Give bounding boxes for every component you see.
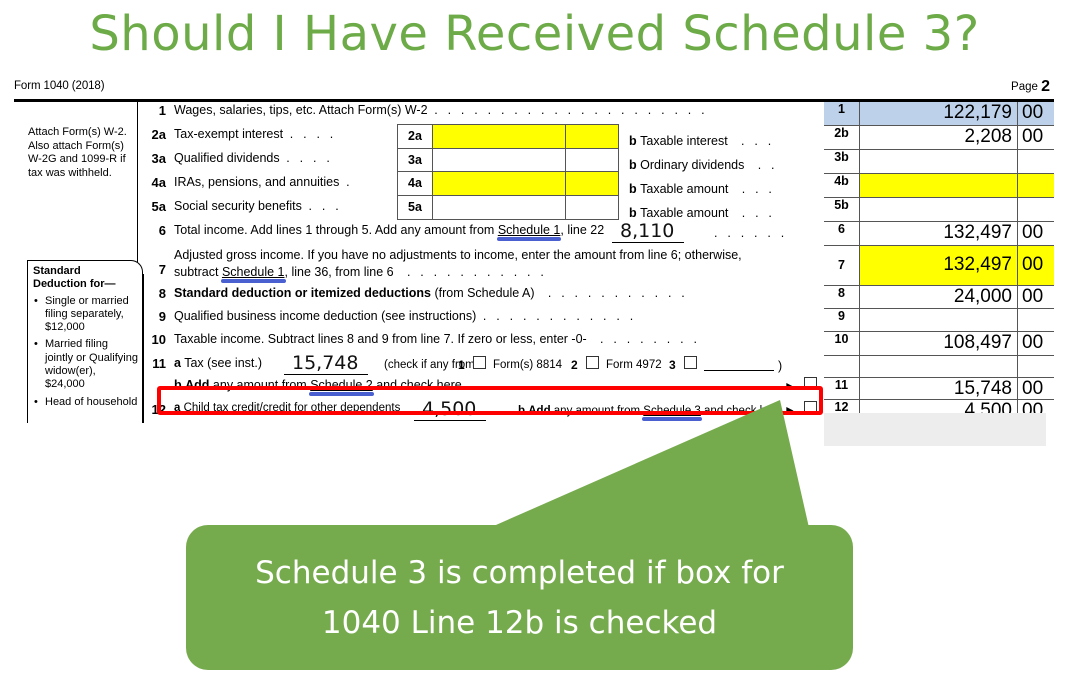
dot-leader: . . . . . . . . . . . . . . . . . . . . … [428, 103, 708, 117]
amount-dollars[interactable] [860, 198, 1018, 221]
line-number: 6 [140, 223, 166, 238]
dot-leader: . . . . . . . . [462, 378, 575, 392]
mid-dollars-field[interactable] [433, 125, 566, 148]
amount-dollars[interactable]: 132,497 [860, 246, 1018, 285]
b-label-taxable-interest: b Taxable interest . . . [629, 134, 774, 148]
dot-leader: . [339, 175, 352, 189]
line-6-text-b: , line 22 [560, 223, 604, 237]
dot-leader: . . . [728, 206, 775, 220]
line-8-bold-text: Standard deduction or itemized deduction… [174, 286, 431, 300]
callout-line-1: Schedule 3 is completed if box for [255, 548, 784, 598]
form-8814-checkbox[interactable] [473, 356, 486, 369]
table-row: 6 132,497 00 [824, 222, 1054, 246]
callout-line-2: 1040 Line 12b is checked [255, 598, 784, 648]
table-row: 8 24,000 00 [824, 286, 1054, 309]
line-11a-other-checkbox[interactable] [684, 356, 697, 369]
mid-row-label: 2a [398, 125, 433, 148]
page-indicator: Page 2 [1011, 78, 1050, 96]
mid-row-5a: 5a [398, 196, 618, 220]
amount-dollars[interactable]: 122,179 [860, 102, 1018, 125]
amount-row-label: 4b [824, 174, 860, 197]
amount-dollars[interactable]: 108,497 [860, 332, 1018, 355]
dot-leader: . . . [728, 182, 775, 196]
line-number: 5a [140, 199, 166, 214]
dot-leader: . . . . [280, 151, 333, 165]
table-row: 10 108,497 00 [824, 332, 1054, 356]
line-description: Qualified business income deduction (see… [174, 309, 636, 323]
mid-row-label: 4a [398, 172, 433, 195]
line-number: 10 [140, 332, 166, 347]
table-row [824, 356, 1054, 378]
line-8-paren-text: (from Schedule A) [434, 286, 534, 300]
line-description: Adjusted gross income. If you have no ad… [174, 248, 829, 262]
amount-dollars[interactable]: 15,748 [860, 378, 1018, 399]
schedule-2-link[interactable]: Schedule 2 [310, 378, 373, 392]
table-row: 2b 2,208 00 [824, 126, 1054, 150]
line-number: 1 [140, 103, 166, 118]
amount-dollars[interactable] [860, 150, 1018, 173]
line-number: 12 [140, 402, 166, 417]
amount-row-label: 5b [824, 198, 860, 221]
amount-row-label: 10 [824, 332, 860, 355]
amount-cents[interactable] [1018, 198, 1054, 221]
attach-forms-note: Attach Form(s) W-2. Also attach Form(s) … [28, 126, 136, 180]
b-label-taxable-amount-5b: b Taxable amount . . . [629, 206, 775, 220]
b-label-text: Taxable amount [640, 206, 728, 220]
line-7-text-b: subtract [174, 265, 222, 279]
amount-dollars[interactable]: 132,497 [860, 222, 1018, 245]
mid-cents-field[interactable] [566, 125, 618, 148]
amount-row-label: 2b [824, 126, 860, 149]
form-header: Form 1040 (2018) Page 2 [14, 78, 1054, 98]
line-number: 7 [140, 262, 166, 277]
line-11a-option-2-label: Form 4972 [606, 359, 662, 371]
amount-cents[interactable] [1018, 356, 1054, 377]
mid-entry-boxes: 2a 3a 4a 5a [397, 124, 619, 220]
page-shadow-block [824, 413, 1046, 446]
amount-row-label: 11 [824, 378, 860, 399]
dot-leader: . . . . . . . . . . . . [476, 309, 636, 323]
line-11a-option-3-number: 3 [669, 358, 676, 372]
form-1040-page-2: Form 1040 (2018) Page 2 Attach Form(s) W… [14, 78, 1054, 423]
line-7-text-c: , line 36, from line 6 [285, 265, 394, 279]
amount-row-label [824, 356, 860, 377]
amount-dollars[interactable]: 24,000 [860, 286, 1018, 308]
amount-dollars[interactable] [860, 174, 1018, 197]
line-11b-bold-text: Add [185, 378, 209, 392]
amount-row-label: 6 [824, 222, 860, 245]
std-ded-bullets: Single or married filing separately, $12… [33, 295, 138, 409]
amount-cents[interactable]: 00 [1018, 102, 1054, 125]
page-prefix: Page [1011, 81, 1038, 93]
line-description: IRAs, pensions, and annuities . [174, 175, 353, 189]
line-12a-amount-fill[interactable]: 4,500 [414, 398, 486, 421]
amount-cents[interactable] [1018, 174, 1054, 197]
dot-leader: . . . [302, 199, 342, 213]
callout-bubble: Schedule 3 is completed if box for 1040 … [186, 525, 853, 670]
form-id-label: Form 1040 (2018) [14, 80, 104, 92]
mid-row-3a: 3a [398, 149, 618, 173]
list-item: Single or married filing separately, $12… [43, 295, 138, 335]
callout-tail [480, 400, 810, 535]
amount-cents[interactable] [1018, 309, 1054, 331]
sub-line-letter: b [174, 378, 182, 392]
form-4972-checkbox[interactable] [586, 356, 599, 369]
line-description: b Add any amount from Schedule 2 and che… [174, 378, 575, 392]
mid-row-label: 3a [398, 149, 433, 172]
line-11b-text-b: and check here [373, 378, 462, 392]
dot-leader: . . . . . . . . . . . [535, 286, 688, 300]
table-row: 9 [824, 309, 1054, 332]
line-1-text: Wages, salaries, tips, etc. Attach Form(… [174, 103, 428, 117]
mid-cents-field[interactable] [566, 196, 618, 220]
sub-line-letter: a [174, 402, 180, 414]
table-row: 1 122,179 00 [824, 102, 1054, 126]
line-description: a Child tax credit/credit for other depe… [174, 402, 400, 414]
line-9-text: Qualified business income deduction (see… [174, 309, 476, 323]
table-row: 3b [824, 150, 1054, 174]
line-11a-option-1-label: Form(s) 8814 [493, 359, 562, 371]
line-description: a Tax (see inst.) [174, 356, 262, 370]
dot-leader: . . . . . . . . . . . [394, 265, 547, 279]
line-7-text-a: Adjusted gross income. If you have no ad… [174, 248, 742, 262]
line-11a-amount-fill[interactable]: 15,748 [284, 352, 368, 375]
schedule-2-checkbox[interactable] [804, 377, 817, 390]
dot-leader: . . [744, 158, 777, 172]
dot-leader: . . . . . . . . [587, 332, 700, 346]
amount-cents[interactable]: 00 [1018, 378, 1054, 399]
amount-dollars[interactable]: 2,208 [860, 126, 1018, 149]
line-description: Social security benefits . . . [174, 199, 342, 213]
line-number: 8 [140, 286, 166, 301]
mid-cents-field[interactable] [566, 149, 618, 172]
b-label-text: Taxable amount [640, 182, 728, 196]
column-divider-upper [137, 102, 138, 262]
line-description: Qualified dividends . . . . [174, 151, 333, 165]
b-label-taxable-amount-4b: b Taxable amount . . . [629, 182, 775, 196]
amount-cents[interactable]: 00 [1018, 222, 1054, 245]
mid-dollars-field[interactable] [433, 172, 566, 195]
callout-text: Schedule 3 is completed if box for 1040 … [255, 548, 784, 648]
line-4a-text: IRAs, pensions, and annuities [174, 175, 339, 189]
line-description: Wages, salaries, tips, etc. Attach Form(… [174, 103, 708, 117]
table-row: 11 15,748 00 [824, 378, 1054, 400]
table-row: 4b [824, 174, 1054, 198]
line-number: 2a [140, 127, 166, 142]
line-number: 4a [140, 175, 166, 190]
b-label-text: Ordinary dividends [640, 158, 744, 172]
line-number: 3a [140, 151, 166, 166]
line-11b-arrow-icon: ► [784, 380, 796, 392]
line-11a-other-write-in[interactable] [704, 370, 774, 371]
dot-leader: . . . [728, 134, 775, 148]
line-11a-option-2-number: 2 [571, 358, 578, 372]
list-item: Head of household [43, 396, 138, 409]
amount-row-label: 8 [824, 286, 860, 308]
mid-row-label: 5a [398, 196, 433, 220]
line-10-text: Taxable income. Subtract lines 8 and 9 f… [174, 332, 587, 346]
table-row: 7 132,497 00 [824, 246, 1054, 286]
b-label-ordinary-dividends: b Ordinary dividends . . [629, 158, 778, 172]
line-number: 9 [140, 309, 166, 324]
line-description: subtract Schedule 1, line 36, from line … [174, 265, 547, 279]
std-ded-title-line2: Deduction for— [33, 278, 138, 291]
line-2a-text: Tax-exempt interest [174, 127, 283, 141]
line-11a-option-1-number: 1 [458, 358, 465, 372]
line-description: Total income. Add lines 1 through 5. Add… [174, 223, 604, 237]
line-11b-text-a: any amount from [209, 378, 310, 392]
amount-cents[interactable]: 00 [1018, 246, 1054, 285]
dot-leader: . . . . . . [714, 226, 787, 240]
amount-row-label: 7 [824, 246, 860, 285]
list-item: Married filing jointly or Qualifying wid… [43, 338, 138, 391]
line-description: Tax-exempt interest . . . . [174, 127, 336, 141]
mid-row-4a: 4a [398, 172, 618, 196]
line-number: 11 [140, 356, 166, 371]
mid-dollars-field[interactable] [433, 196, 566, 220]
line-6-amount-fill[interactable]: 8,110 [612, 220, 684, 243]
dot-leader: . . . . [283, 127, 336, 141]
line-description: Standard deduction or itemized deduction… [174, 286, 688, 300]
line-11a-close-paren: ) [778, 359, 782, 373]
page-number: 2 [1041, 78, 1050, 95]
mid-dollars-field[interactable] [433, 149, 566, 172]
standard-deduction-box: Standard Deduction for— Single or marrie… [27, 260, 143, 423]
amount-row-label: 1 [824, 102, 860, 125]
amount-dollars[interactable] [860, 356, 1018, 377]
amount-row-label: 3b [824, 150, 860, 173]
line-6-text-a: Total income. Add lines 1 through 5. Add… [174, 223, 498, 237]
amount-cents[interactable]: 00 [1018, 332, 1054, 355]
sub-line-letter: a [174, 356, 181, 370]
line-11a-label: Tax (see inst.) [184, 356, 262, 370]
amount-cents[interactable]: 00 [1018, 126, 1054, 149]
schedule-1-link[interactable]: Schedule 1 [498, 223, 561, 237]
line-5a-text: Social security benefits [174, 199, 302, 213]
line-description: Taxable income. Subtract lines 8 and 9 f… [174, 332, 700, 346]
schedule-1-link[interactable]: Schedule 1 [222, 265, 285, 279]
mid-cents-field[interactable] [566, 172, 618, 195]
amount-cents[interactable] [1018, 150, 1054, 173]
amount-row-label: 9 [824, 309, 860, 331]
std-ded-title-line1: Standard [33, 265, 138, 278]
mid-row-2a: 2a [398, 125, 618, 149]
b-label-text: Taxable interest [640, 134, 728, 148]
amount-dollars[interactable] [860, 309, 1018, 331]
amount-cents[interactable]: 00 [1018, 286, 1054, 308]
table-row: 5b [824, 198, 1054, 222]
page-title: Should I Have Received Schedule 3? [0, 6, 1069, 62]
line-3a-text: Qualified dividends [174, 151, 280, 165]
line-12a-label: Child tax credit/credit for other depend… [184, 402, 401, 414]
